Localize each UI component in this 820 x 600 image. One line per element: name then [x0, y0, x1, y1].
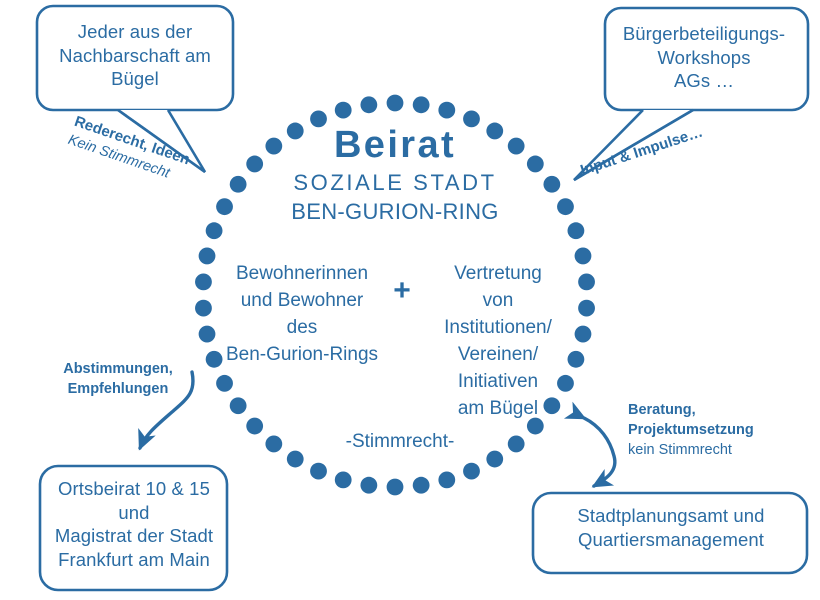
circle-column-residents: Bewohnerinnen und Bewohner des Ben-Gurio…	[216, 261, 388, 369]
ring-dot	[413, 477, 430, 494]
connector-label-bottom-right-line3: kein Stimmrecht	[628, 440, 788, 460]
ring-dot	[438, 102, 455, 119]
ring-dot	[543, 176, 560, 193]
ring-dot	[199, 248, 216, 265]
circle-column-institutions: Vertretung von Institutionen/ Vereinen/ …	[424, 261, 572, 423]
ring-dot	[265, 436, 282, 453]
circle-footer-voting-right: -Stimmrecht-	[320, 430, 480, 454]
ring-dot	[578, 300, 595, 317]
connector-label-bottom-right-line1: Beratung,	[628, 400, 788, 420]
ring-dot	[438, 471, 455, 488]
ring-dot	[195, 274, 212, 291]
ring-dot	[557, 198, 574, 215]
ring-dot	[360, 477, 377, 494]
ring-dot	[578, 274, 595, 291]
ring-dot	[575, 326, 592, 343]
ring-dot	[463, 111, 480, 128]
speech-bubble-top-right-text: Bürgerbeteiligungs- Workshops AGs …	[606, 22, 802, 93]
plus-icon: +	[386, 276, 418, 306]
ring-dot	[387, 95, 404, 112]
ring-dot	[287, 451, 304, 468]
connector-label-bottom-right-line2: Projektumsetzung	[628, 420, 788, 440]
page-subtitle-secondary: BEN-GURION-RING	[258, 201, 532, 223]
ring-dot	[413, 96, 430, 113]
page-subtitle-primary: SOZIALE STADT	[260, 172, 530, 194]
speech-bubble-top-left-text: Jeder aus der Nachbarschaft am Bügel	[44, 20, 226, 91]
ring-dot	[216, 198, 233, 215]
ring-dot	[486, 451, 503, 468]
ring-dot	[387, 479, 404, 496]
ring-dot	[310, 111, 327, 128]
page-title: Beirat	[260, 126, 530, 164]
ring-dot	[335, 471, 352, 488]
ring-dot	[216, 375, 233, 392]
ring-dot	[230, 397, 247, 414]
ring-dot	[335, 102, 352, 119]
ring-dot	[508, 436, 525, 453]
ring-dot	[199, 326, 216, 343]
ring-dot	[206, 222, 223, 239]
connector-label-bottom-right: Beratung, Projektumsetzung kein Stimmrec…	[628, 400, 788, 460]
arrow-beratung	[584, 418, 615, 486]
diagram-canvas: Jeder aus der Nachbarschaft am Bügel Bür…	[0, 0, 820, 600]
ring-dot	[195, 300, 212, 317]
ring-dot	[568, 222, 585, 239]
box-bottom-right-text: Stadtplanungsamt und Quartiersmanagement	[540, 504, 802, 551]
ring-dot	[230, 176, 247, 193]
box-bottom-left-text: Ortsbeirat 10 & 15 und Magistrat der Sta…	[46, 477, 222, 572]
ring-dot	[575, 248, 592, 265]
ring-dot	[310, 463, 327, 480]
ring-dot	[360, 96, 377, 113]
ring-dot	[463, 463, 480, 480]
ring-dot	[246, 418, 263, 435]
connector-label-bottom-left: Abstimmungen, Empfehlungen	[48, 360, 188, 399]
